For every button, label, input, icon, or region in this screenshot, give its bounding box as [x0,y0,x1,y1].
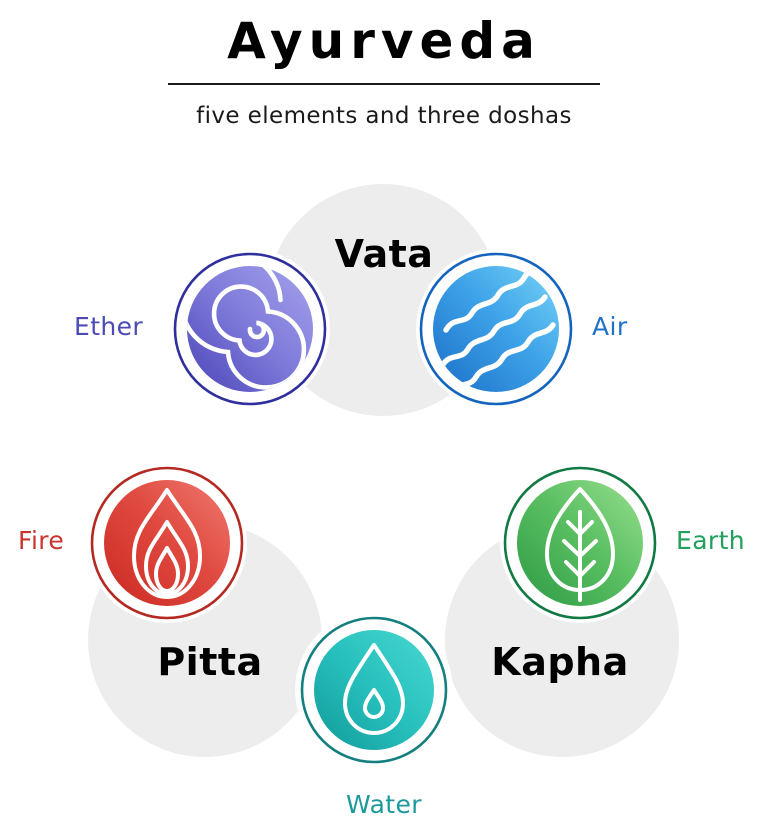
element-badge-fire[interactable] [92,468,242,618]
page-subtitle: five elements and three doshas [0,85,768,129]
element-label-air: Air [592,312,628,341]
dosha-label-pitta: Pitta [120,640,300,684]
element-badge-earth[interactable] [505,468,655,618]
element-label-fire: Fire [18,526,64,555]
dosha-label-kapha: Kapha [460,640,660,684]
header: Ayurveda five elements and three doshas [0,0,768,129]
dosha-label-vata: Vata [0,232,768,276]
fire-disc [104,480,230,606]
element-badge-air[interactable] [421,254,571,404]
element-label-earth: Earth [676,526,745,555]
element-badge-water[interactable] [302,618,446,762]
page-title: Ayurveda [0,0,768,69]
element-label-ether: Ether [74,312,143,341]
element-label-water: Water [0,790,768,819]
